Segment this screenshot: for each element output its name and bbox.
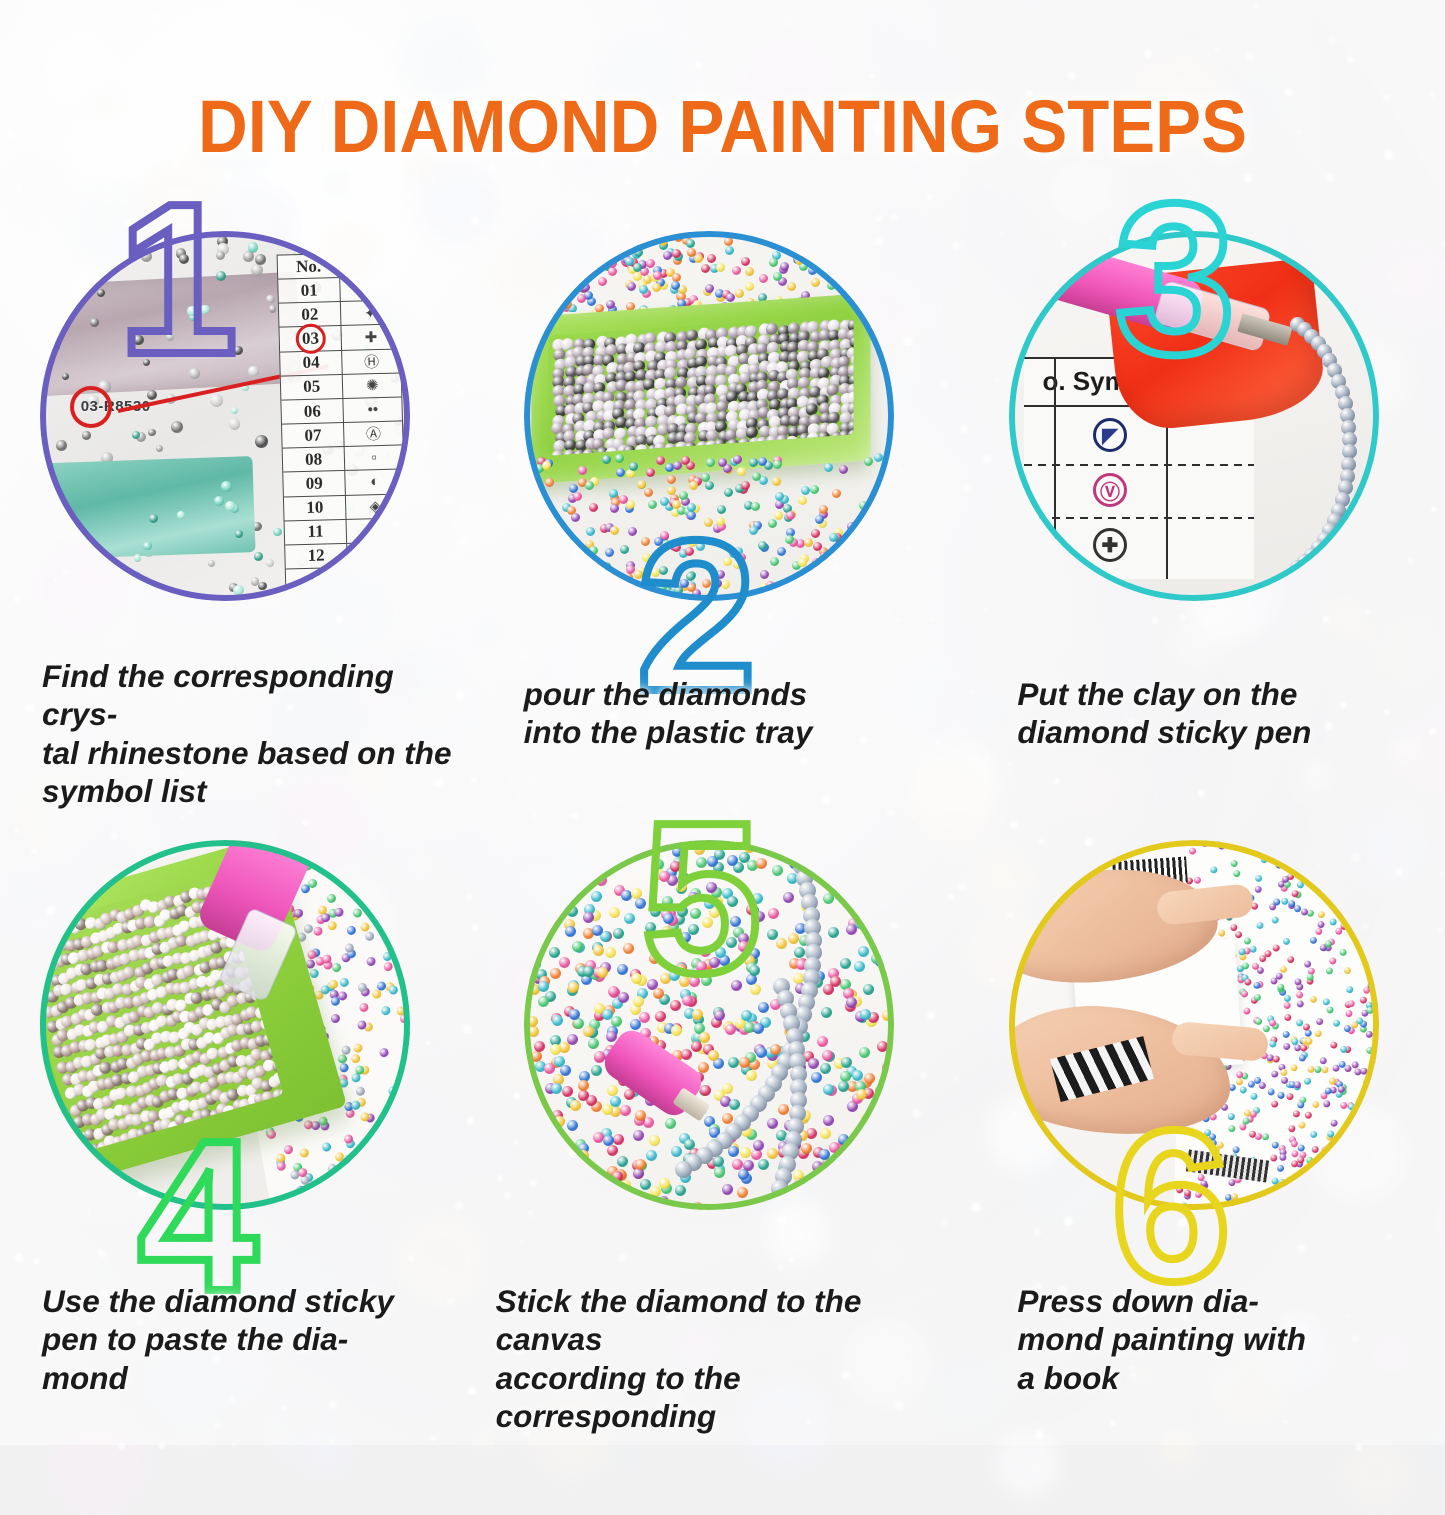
mosaic-diamond <box>1268 1019 1275 1026</box>
symbol-table-header: No. <box>277 253 398 280</box>
chart-symbol-1: ◤ <box>1093 418 1127 452</box>
mosaic-diamond <box>627 282 636 291</box>
symbol-row-symbol: Ⓐ <box>344 422 402 447</box>
mosaic-diamond <box>1242 962 1249 969</box>
mosaic-diamond <box>334 1185 344 1195</box>
mosaic-diamond <box>812 238 821 247</box>
mosaic-diamond <box>1367 896 1374 903</box>
mosaic-diamond <box>620 545 629 554</box>
mosaic-diamond <box>769 258 778 267</box>
mosaic-diamond <box>1189 847 1196 854</box>
mosaic-diamond <box>1311 1146 1318 1153</box>
mosaic-diamond <box>812 558 821 567</box>
mosaic-diamond <box>586 269 595 278</box>
mosaic-diamond <box>883 261 892 270</box>
mosaic-diamond <box>873 251 882 260</box>
mosaic-diamond <box>336 844 346 854</box>
mosaic-diamond <box>1282 1042 1289 1049</box>
mosaic-diamond <box>1281 1200 1288 1207</box>
mosaic-diamond <box>1280 1077 1287 1084</box>
mosaic-diamond <box>1326 1130 1333 1137</box>
tray-diamond <box>254 1005 269 1020</box>
symbol-row-symbol: ✺ <box>343 373 401 398</box>
mosaic-diamond <box>388 932 398 942</box>
mosaic-diamond <box>1361 890 1368 897</box>
mosaic-diamond <box>639 285 648 294</box>
mosaic-diamond <box>1291 840 1298 846</box>
mosaic-diamond <box>401 1087 410 1097</box>
mosaic-diamond <box>856 579 865 588</box>
mosaic-diamond <box>1321 1066 1328 1073</box>
bokeh-circle <box>1345 1442 1409 1506</box>
symbol-row-symbol: ◈ <box>346 494 404 519</box>
symbol-row-symbol: ✦ <box>341 301 399 326</box>
mosaic-diamond <box>1233 1203 1240 1210</box>
mosaic-diamond <box>1298 1121 1305 1128</box>
mosaic-diamond <box>745 282 754 291</box>
symbol-row-symbol: ▫ <box>345 446 403 471</box>
mosaic-diamond <box>1374 918 1380 925</box>
mosaic-diamond <box>608 259 617 268</box>
mosaic-diamond <box>1271 1141 1278 1148</box>
mosaic-diamond <box>840 577 849 586</box>
step-6: 6 Press down dia-mond painting witha boo… <box>963 830 1445 1445</box>
mosaic-diamond <box>352 908 362 918</box>
symbol-table-row: 05✺ <box>280 373 401 400</box>
mosaic-diamond <box>1244 1109 1251 1116</box>
mosaic-diamond <box>1270 976 1277 983</box>
mosaic-diamond <box>1193 876 1200 883</box>
caption-line: into the plastic tray <box>524 713 946 751</box>
mosaic-diamond <box>1357 1130 1364 1137</box>
caption-line: pen to paste the dia- <box>42 1320 464 1358</box>
symbol-table-row: 07Ⓐ <box>282 422 403 449</box>
mosaic-diamond <box>832 489 841 498</box>
mosaic-diamond <box>874 453 883 462</box>
mosaic-diamond <box>1282 937 1289 944</box>
symbol-table-row: 02✦ <box>278 301 399 328</box>
mosaic-diamond <box>733 455 742 464</box>
mosaic-diamond <box>1326 967 1333 974</box>
mosaic-diamond <box>403 1031 410 1041</box>
mosaic-diamond <box>879 309 888 312</box>
mosaic-diamond <box>1316 1018 1323 1025</box>
mosaic-diamond <box>635 238 644 247</box>
mosaic-diamond <box>550 593 559 601</box>
mosaic-diamond <box>572 247 581 256</box>
mosaic-diamond <box>1243 1196 1250 1203</box>
mosaic-diamond <box>1345 1009 1352 1016</box>
mosaic-diamond <box>1281 1180 1288 1187</box>
mosaic-diamond <box>1270 840 1277 843</box>
mosaic-diamond <box>1332 1064 1339 1071</box>
symbol-table-row: 11 <box>284 518 405 545</box>
mosaic-diamond <box>1363 1079 1370 1086</box>
mosaic-diamond <box>330 997 340 1007</box>
sparkle <box>1356 1444 1362 1450</box>
symbol-table-header-no: No. <box>277 254 340 279</box>
mosaic-diamond <box>1289 1064 1296 1071</box>
mosaic-diamond <box>1256 921 1263 928</box>
mosaic-diamond <box>1294 977 1301 984</box>
mosaic-diamond <box>1360 1067 1367 1074</box>
mosaic-diamond <box>576 262 585 271</box>
mosaic-diamond <box>1291 1150 1298 1157</box>
tray-diamond-fill <box>548 314 854 456</box>
mosaic-diamond <box>646 259 655 268</box>
mosaic-diamond <box>819 249 828 258</box>
rhinestone-teal <box>89 250 100 261</box>
symbol-row-number: 10 <box>283 496 346 521</box>
tray-diamond <box>818 431 830 444</box>
mosaic-diamond <box>1303 863 1310 870</box>
mosaic-diamond <box>705 284 714 293</box>
mosaic-diamond <box>350 1054 360 1064</box>
mosaic-diamond <box>539 544 548 553</box>
mosaic-diamond <box>329 979 339 989</box>
mosaic-diamond <box>1366 1006 1373 1013</box>
mosaic-diamond <box>741 257 750 266</box>
mosaic-diamond <box>1348 879 1355 886</box>
mosaic-diamond <box>864 457 873 466</box>
mosaic-diamond <box>801 486 810 495</box>
mosaic-diamond <box>303 1121 313 1131</box>
mosaic-diamond <box>276 1161 286 1171</box>
mosaic-diamond <box>542 461 551 470</box>
mosaic-diamond <box>585 481 594 490</box>
mosaic-diamond <box>735 289 744 298</box>
mosaic-diamond <box>375 1125 385 1135</box>
mosaic-diamond <box>1296 880 1303 887</box>
mosaic-diamond <box>610 526 619 535</box>
mosaic-diamond <box>1230 859 1237 866</box>
mosaic-diamond <box>758 457 767 466</box>
mosaic-diamond <box>1317 911 1324 918</box>
mosaic-diamond <box>835 239 844 248</box>
mosaic-diamond <box>574 555 583 564</box>
mosaic-diamond <box>1337 906 1344 913</box>
mosaic-diamond <box>369 1139 379 1149</box>
mosaic-diamond <box>1263 1025 1270 1032</box>
mosaic-diamond <box>633 263 642 272</box>
mosaic-diamond <box>545 478 554 487</box>
mosaic-diamond <box>382 952 392 962</box>
mosaic-diamond <box>1364 911 1371 918</box>
mosaic-diamond <box>811 581 820 590</box>
mosaic-diamond <box>681 456 690 465</box>
mosaic-diamond <box>604 586 613 595</box>
symbol-row-number: 03 <box>279 327 342 352</box>
mosaic-diamond <box>1333 1139 1340 1146</box>
caption-line: Find the corresponding crys- <box>42 657 464 734</box>
mosaic-diamond <box>1304 1111 1311 1118</box>
mosaic-diamond <box>667 475 676 484</box>
mosaic-diamond <box>564 598 573 601</box>
mosaic-diamond <box>1312 872 1319 879</box>
mosaic-diamond <box>1309 937 1316 944</box>
mosaic-diamond <box>1241 990 1248 997</box>
mosaic-diamond <box>725 246 734 255</box>
mosaic-diamond <box>1339 1045 1346 1052</box>
mosaic-diamond <box>1330 1041 1337 1048</box>
mosaic-diamond <box>605 548 614 557</box>
step-2-caption: pour the diamondsinto the plastic tray <box>524 675 946 752</box>
mosaic-diamond <box>578 466 587 475</box>
mosaic-diamond <box>1300 1044 1307 1051</box>
mosaic-diamond <box>1266 1054 1273 1061</box>
symbol-row-number: 05 <box>280 375 343 400</box>
mosaic-diamond <box>1326 1006 1333 1013</box>
mosaic-diamond <box>1335 927 1342 934</box>
mosaic-diamond <box>566 231 575 235</box>
mosaic-diamond <box>646 468 655 477</box>
mosaic-diamond <box>579 575 588 584</box>
mosaic-diamond <box>847 522 856 531</box>
mosaic-diamond <box>839 465 848 474</box>
rhinestone-teal <box>149 514 159 524</box>
mosaic-diamond <box>273 1207 283 1210</box>
mosaic-diamond <box>1345 985 1352 992</box>
mosaic-diamond <box>811 278 820 287</box>
rhinestone-teal <box>233 585 243 595</box>
mosaic-diamond <box>405 884 410 894</box>
symbol-table-row: 04Ⓗ <box>280 349 401 376</box>
mosaic-diamond <box>867 580 876 589</box>
mosaic-diamond <box>388 882 398 892</box>
mosaic-diamond <box>873 284 882 293</box>
tray-diamond <box>786 435 798 448</box>
mosaic-diamond <box>313 926 323 936</box>
mosaic-diamond <box>606 300 615 309</box>
mosaic-diamond <box>634 248 643 257</box>
mosaic-diamond <box>1232 1146 1239 1153</box>
mosaic-diamond <box>331 963 341 973</box>
mosaic-diamond <box>673 461 682 470</box>
mosaic-diamond <box>853 231 862 235</box>
mosaic-diamond <box>732 266 741 275</box>
mosaic-diamond <box>557 549 566 558</box>
mosaic-diamond <box>330 1014 340 1024</box>
mosaic-diamond <box>327 1164 337 1174</box>
mosaic-diamond <box>397 1141 407 1151</box>
mosaic-diamond <box>1337 1085 1344 1092</box>
mosaic-diamond <box>387 1086 397 1096</box>
mosaic-diamond <box>613 240 622 249</box>
mosaic-diamond <box>573 492 582 501</box>
mosaic-diamond <box>1296 1156 1303 1163</box>
symbol-table-row: 06•• <box>281 398 402 425</box>
mosaic-diamond <box>1230 1193 1237 1200</box>
mosaic-diamond <box>1310 852 1317 859</box>
mosaic-diamond <box>1271 916 1278 923</box>
mosaic-diamond <box>1277 1164 1284 1171</box>
mosaic-diamond <box>647 236 656 245</box>
mosaic-diamond <box>871 231 880 239</box>
mosaic-diamond <box>596 251 605 260</box>
symbol-row-number: 07 <box>282 423 345 448</box>
mosaic-diamond <box>879 538 886 547</box>
symbol-row-symbol: Ⓗ <box>342 349 400 374</box>
step-3-caption: Put the clay on thediamond sticky pen <box>1017 675 1427 752</box>
mosaic-diamond <box>1286 1093 1293 1100</box>
symbol-table-row: 13 <box>285 567 406 594</box>
mosaic-diamond <box>879 480 887 489</box>
tray-diamond <box>848 429 854 442</box>
symbol-row-number: 01 <box>278 278 341 303</box>
mosaic-diamond <box>1254 1132 1261 1139</box>
mosaic-diamond <box>354 1153 364 1163</box>
mosaic-diamond <box>339 977 349 987</box>
mosaic-diamond <box>602 455 611 464</box>
mosaic-diamond <box>1327 1158 1334 1165</box>
mosaic-diamond <box>1279 966 1286 973</box>
mosaic-diamond <box>1357 911 1364 918</box>
mosaic-diamond <box>804 538 813 547</box>
mosaic-diamond <box>629 462 638 471</box>
tray-diamond <box>765 435 777 448</box>
mosaic-diamond <box>795 591 804 600</box>
mosaic-diamond <box>1297 1144 1304 1151</box>
mosaic-diamond <box>408 899 410 909</box>
mosaic-diamond <box>1310 863 1317 870</box>
mosaic-diamond <box>1267 1088 1274 1095</box>
mosaic-diamond <box>718 458 727 467</box>
mosaic-diamond <box>1271 1070 1278 1077</box>
mosaic-diamond <box>1348 1103 1355 1110</box>
mosaic-diamond <box>1332 1019 1339 1026</box>
mosaic-diamond <box>1367 981 1374 988</box>
mosaic-diamond <box>872 597 881 601</box>
mosaic-diamond <box>716 263 725 272</box>
mosaic-diamond <box>365 932 375 942</box>
mosaic-diamond <box>1293 850 1300 857</box>
mosaic-diamond <box>1317 921 1324 928</box>
mosaic-diamond <box>1358 1099 1365 1106</box>
mosaic-diamond <box>1252 981 1259 988</box>
mosaic-diamond <box>595 581 604 590</box>
mosaic-diamond <box>1317 1173 1324 1180</box>
mosaic-diamond <box>610 504 619 513</box>
mosaic-diamond <box>1255 874 1262 881</box>
symbol-table-row: 10◈ <box>283 494 404 521</box>
mosaic-diamond <box>383 962 393 972</box>
mosaic-diamond <box>589 546 598 555</box>
mosaic-diamond <box>387 1191 397 1201</box>
mosaic-diamond <box>810 485 819 494</box>
mosaic-diamond <box>1277 1091 1284 1098</box>
mosaic-diamond <box>1326 1193 1333 1200</box>
rhinestone-teal <box>214 496 224 506</box>
step-4: 4 Use the diamond stickypen to paste the… <box>0 830 482 1445</box>
mosaic-diamond <box>1369 1148 1376 1155</box>
mosaic-diamond <box>1369 1076 1376 1083</box>
mosaic-diamond <box>653 271 662 280</box>
mosaic-diamond <box>1324 940 1331 947</box>
mosaic-diamond <box>1374 973 1380 980</box>
mosaic-diamond <box>1305 1038 1312 1045</box>
chart-row-divider <box>1024 464 1253 466</box>
mosaic-diamond <box>842 272 851 281</box>
bead-chain-arc <box>1239 327 1380 549</box>
mosaic-diamond <box>694 254 703 263</box>
mosaic-diamond <box>1329 957 1336 964</box>
mosaic-diamond <box>770 557 779 566</box>
mosaic-diamond <box>557 233 566 242</box>
mosaic-diamond <box>1294 904 1301 911</box>
mosaic-diamond <box>1240 842 1247 849</box>
mosaic-diamond <box>1244 937 1251 944</box>
symbol-table-header-symbol <box>340 253 398 278</box>
mosaic-diamond <box>1315 884 1322 891</box>
mosaic-diamond <box>571 513 580 522</box>
mosaic-diamond <box>1230 924 1237 931</box>
mosaic-diamond <box>1343 1025 1350 1032</box>
mosaic-diamond <box>847 548 856 557</box>
chart-vertical-rule-left <box>1054 359 1056 579</box>
mosaic-diamond <box>1363 1189 1370 1196</box>
mosaic-diamond <box>1280 1068 1287 1075</box>
symbol-table-row: 08▫ <box>282 446 403 473</box>
mosaic-diamond <box>1239 1086 1246 1093</box>
step-6-caption: Press down dia-mond painting witha book <box>1017 1282 1427 1397</box>
step-3: o. Sym ◤ Ⓥ ✚ 3 Put the clay on the <box>963 205 1445 830</box>
mosaic-diamond <box>1261 856 1268 863</box>
mosaic-diamond <box>887 245 894 254</box>
mosaic-diamond <box>1372 1056 1379 1063</box>
mosaic-diamond <box>672 249 681 258</box>
mosaic-diamond <box>1306 973 1313 980</box>
mosaic-diamond <box>1306 1156 1313 1163</box>
mosaic-diamond <box>359 1166 369 1176</box>
mosaic-diamond <box>1312 1100 1319 1107</box>
mosaic-diamond <box>384 867 394 877</box>
mosaic-diamond <box>341 1157 351 1167</box>
symbol-row-symbol: ✚ <box>341 325 399 350</box>
caption-line: according to the corresponding <box>496 1359 946 1436</box>
caption-line: tal rhinestone based on the <box>42 734 464 772</box>
mosaic-diamond <box>1257 1208 1264 1210</box>
mosaic-diamond <box>1295 991 1302 998</box>
mosaic-diamond <box>843 282 852 291</box>
mosaic-diamond <box>752 472 761 481</box>
mosaic-diamond <box>371 876 381 886</box>
rhinestone-teal <box>225 501 235 511</box>
mosaic-diamond <box>1253 993 1260 1000</box>
mosaic-diamond <box>772 477 781 486</box>
symbol-row-number: 13 <box>285 568 348 594</box>
mosaic-diamond <box>1282 1030 1289 1037</box>
red-highlight-circle-bag <box>70 386 112 428</box>
mosaic-diamond <box>741 481 750 490</box>
mosaic-diamond <box>846 591 855 600</box>
mosaic-diamond <box>1254 885 1261 892</box>
chart-symbol-2: Ⓥ <box>1093 473 1127 507</box>
rhinestone-teal <box>235 530 243 538</box>
mosaic-diamond <box>1258 1082 1265 1089</box>
mosaic-diamond <box>1331 901 1338 908</box>
mosaic-diamond <box>1308 1169 1315 1176</box>
rhinestone-teal <box>221 481 232 492</box>
mosaic-diamond <box>1283 994 1290 1001</box>
mosaic-diamond <box>1280 897 1287 904</box>
mosaic-diamond <box>1361 1164 1368 1171</box>
mosaic-diamond <box>1366 1110 1373 1117</box>
step-3-numeral: 3 <box>1115 193 1235 365</box>
mosaic-diamond <box>577 294 586 303</box>
mosaic-diamond <box>773 460 782 469</box>
rhinestone-teal <box>132 579 142 589</box>
chart-symbol-3: ✚ <box>1093 528 1127 562</box>
